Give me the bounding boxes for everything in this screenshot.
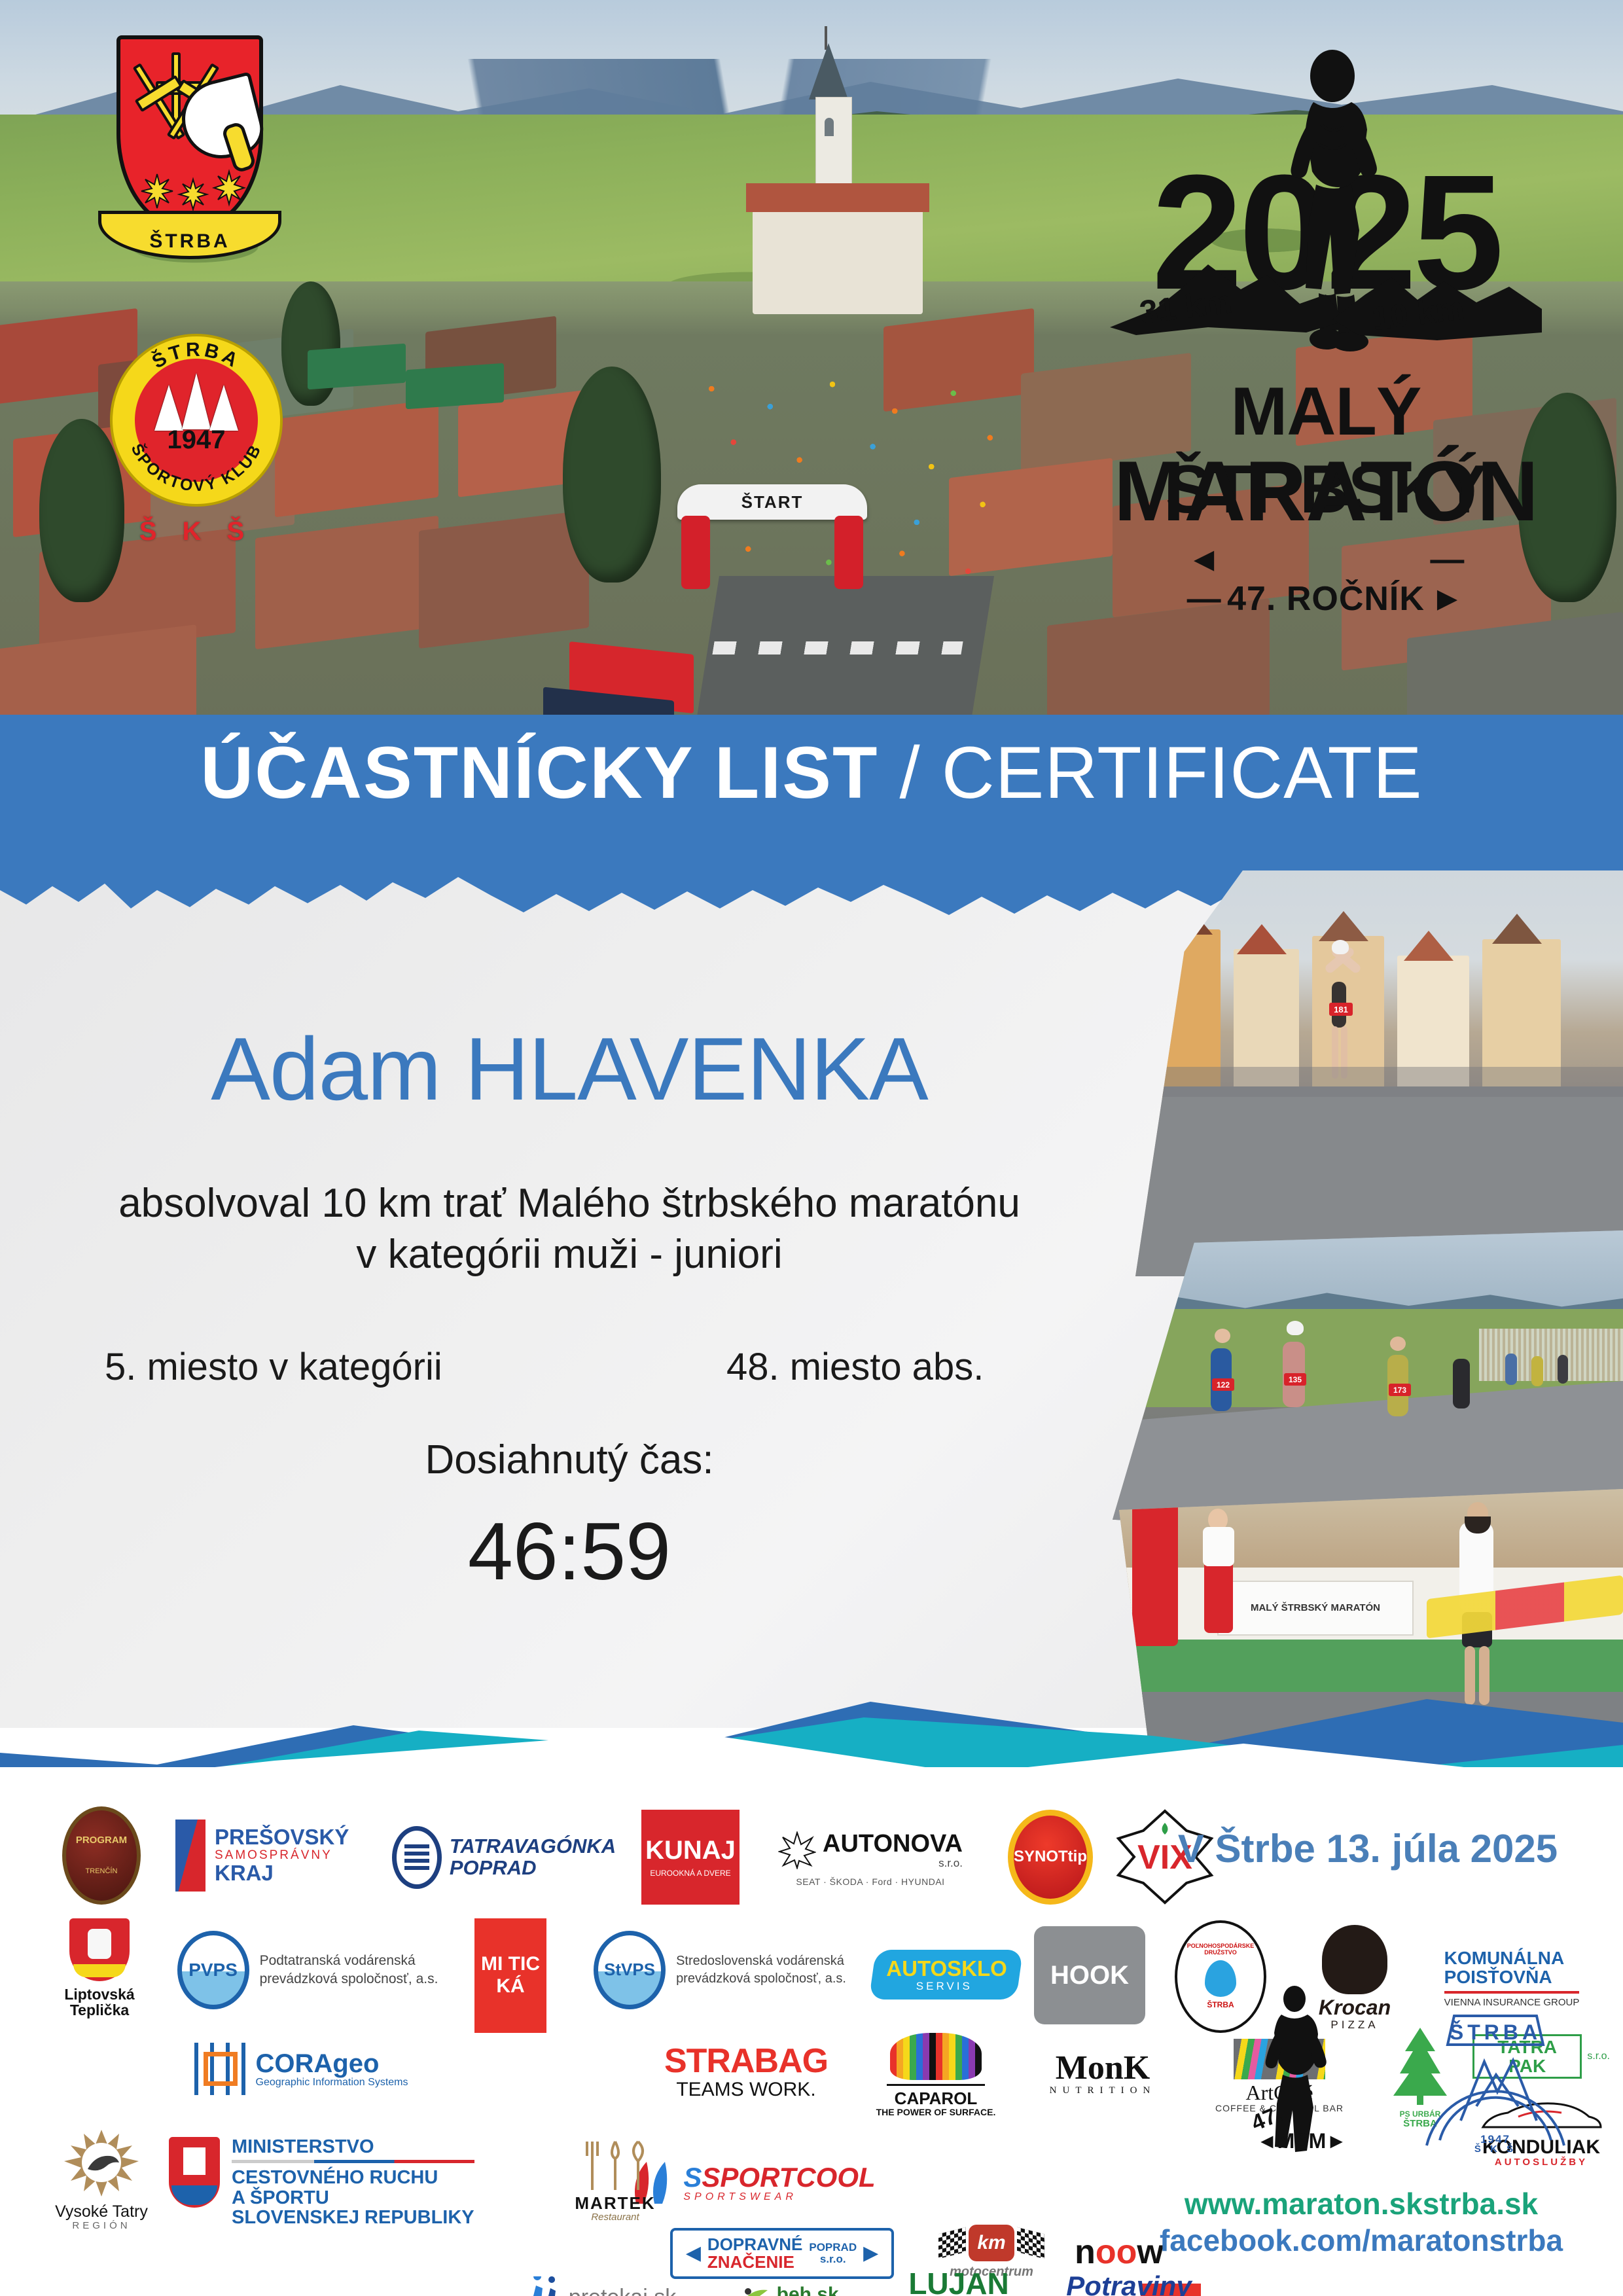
- sponsor-line3: A ŠPORTU: [232, 2188, 474, 2208]
- race-edition: ◄—47. ROČNÍK—►: [1071, 540, 1581, 619]
- title-separator: /: [878, 732, 941, 814]
- sponsor-pvps[interactable]: PVPS Podtatranská vodárenská prevádzková…: [164, 1924, 452, 2016]
- sponsor-line3: prevádzková spoločnosť, a.s.: [676, 1970, 846, 1988]
- sponsor-pretekaj-sk[interactable]: pretekaj.sk: [517, 2262, 687, 2296]
- sponsor-line2: Restaurant: [575, 2212, 655, 2223]
- sponsor-line1: AUTONOVA: [823, 1831, 963, 1857]
- strba-stamp-logo: ŠTRBA 1947 Š K Š: [1414, 1977, 1577, 2153]
- sponsor-caparol[interactable]: CAPAROL THE POWER OF SURFACE.: [864, 2022, 1008, 2127]
- sponsor-line1: MI TIC KÁ: [474, 1953, 546, 1998]
- bib-number: 173: [1389, 1384, 1411, 1396]
- sponsor-line2: POPRAD: [450, 1857, 616, 1879]
- sponsor-line4: SLOVENSKEJ REPUBLIKY: [232, 2208, 474, 2227]
- red-arch-leg: [1132, 1496, 1178, 1646]
- photo-runners-on-road: 122 135 173: [1113, 1230, 1623, 1538]
- sponsor-line2: THE POWER OF SURFACE.: [876, 2108, 996, 2117]
- running-figures-icon: [528, 2276, 562, 2296]
- photo-female-finisher: 181: [1135, 870, 1623, 1276]
- sponsor-line2: SPORTSWEAR: [683, 2192, 875, 2203]
- sponsor-hook[interactable]: HOOK: [1027, 1923, 1152, 2028]
- sponsor-line1: MINISTERSTVO: [232, 2137, 474, 2157]
- cutlery-icon: [579, 2139, 651, 2191]
- description-line-1: absolvoval 10 km trať Malého štrbského m…: [39, 1178, 1099, 1229]
- club-founding-year: 1947: [135, 425, 258, 455]
- sponsor-line2: Teplička: [64, 2002, 134, 2018]
- sponsor-line1: CAPAROL: [876, 2090, 996, 2108]
- sponsor-line3: SEAT · ŠKODA · Ford · HYUNDAI: [778, 1877, 963, 1887]
- sponsor-line2: s.r.o.: [823, 1857, 963, 1869]
- sponsor-presovsky-kraj[interactable]: PREŠOVSKÝ SAMOSPRÁVNY KRAJ: [175, 1813, 385, 1898]
- crest-municipality-label: ŠTRBA: [98, 230, 281, 253]
- strba-stamp-abbrev: Š K Š: [1474, 2143, 1516, 2153]
- time-label: Dosiahnutý čas:: [39, 1437, 1099, 1483]
- sponsor-line1: Liptovská: [64, 1986, 134, 2002]
- sponsor-beh-sk[interactable]: beh.sk Web, ktorý vás rozhýbe: [707, 2266, 883, 2296]
- start-arch-label: ŠTART: [677, 492, 867, 512]
- placement-row: 5. miesto v kategórii 48. miesto abs.: [39, 1345, 1099, 1397]
- sponsor-line1: PREŠOVSKÝ: [215, 1826, 349, 1849]
- sponsor-line1: KUNAJ: [645, 1837, 736, 1864]
- sponsor-program-trencin[interactable]: PROGRAM TRENČÍN: [39, 1806, 164, 1905]
- club-abbreviation: Š K Š: [98, 517, 294, 547]
- sponsor-autosklo-servis[interactable]: AUTOSKLO SERVIS: [870, 1932, 1021, 2017]
- conifer-tree: [563, 367, 661, 583]
- sponsor-corageo[interactable]: CORAgeo Geographic Information Systems: [164, 2026, 438, 2111]
- sponsor-tatravagonka[interactable]: TATRAVAGÓNKA POPRAD: [393, 1818, 615, 1897]
- finish-banner-text: MALÝ ŠTRBSKÝ MARATÓN: [1217, 1581, 1414, 1636]
- photo-collage: 181 122 135 173: [1106, 864, 1623, 1734]
- sponsor-stvps[interactable]: StVPS Stredoslovenská vodárenská prevádz…: [576, 1924, 864, 2016]
- msm-stamp-logo: 47. ◄MSM►: [1217, 1977, 1368, 2153]
- sponsor-line2: SERVIS: [883, 1980, 1005, 1992]
- sponsor-ministerstvo-sr[interactable]: MINISTERSTVO CESTOVNÉHO RUCHU A ŠPORTU S…: [169, 2117, 535, 2248]
- sponsor-line2: TEAMS WORK.: [664, 2079, 828, 2100]
- sponsor-line2: EUROOKNÁ A DVERE: [650, 1869, 730, 1878]
- sponsor-line1: HOOK: [1050, 1962, 1129, 1989]
- green-tent: [308, 344, 406, 389]
- start-arch: ŠTART: [677, 484, 867, 589]
- sponsor-line1: AUTOSKLO: [886, 1958, 1007, 1981]
- sponsor-line1: MARTEK: [575, 2195, 655, 2212]
- arch-leg-left: [681, 516, 710, 589]
- sponsor-line1: MonK: [1050, 2051, 1156, 2087]
- sponsor-line1: Potraviny: [1066, 2272, 1191, 2296]
- dash-right: —►: [1425, 540, 1471, 619]
- sponsor-liptovska-teplicka[interactable]: Liptovská Teplička: [47, 1912, 152, 2024]
- sponsor-martek-restaurant[interactable]: MARTEK Restaurant: [543, 2128, 687, 2233]
- dash-left: ◄—: [1181, 540, 1227, 619]
- finish-time: 46:59: [39, 1505, 1099, 1598]
- sponsor-miticka[interactable]: MI TIC KÁ: [458, 1916, 563, 2034]
- sponsor-line2: NUTRITION: [1050, 2086, 1156, 2096]
- sponsor-potraviny-serfel[interactable]: Potraviny ŠERFEL: [1041, 2253, 1217, 2296]
- sponsor-line1: POĽNOHOSPODÁRSKE DRUŽSTVO: [1184, 1943, 1257, 1956]
- sks-club-logo: ŠTRBA ŠPORTOVÝ KLUB 1947 Š K Š: [98, 327, 294, 589]
- sponsor-line3: prevádzková spoločnosť, a.s.: [260, 1970, 438, 1988]
- green-tent: [406, 363, 504, 409]
- title-bold-part: ÚČASTNÍCKY LIST: [200, 732, 878, 814]
- event-date: V Štrbe 13. júla 2025: [1139, 1826, 1597, 1871]
- crosswalk: [712, 641, 963, 655]
- sponsor-monk-nutrition[interactable]: MonK NUTRITION: [1021, 2034, 1185, 2113]
- arch-leg-right: [834, 516, 863, 589]
- sponsor-line2: REGIÓN: [55, 2221, 148, 2231]
- strba-stamp-top: ŠTRBA: [1450, 2020, 1541, 2044]
- website-url[interactable]: www.maraton.skstrba.sk: [1113, 2186, 1610, 2221]
- sponsor-line1: Vysoké Tatry: [55, 2203, 148, 2220]
- starburst-icon: [778, 1831, 816, 1869]
- sponsor-line1: beh.sk: [777, 2284, 857, 2296]
- sponsor-line2: s.r.o.: [1587, 2051, 1610, 2062]
- bib-number: 122: [1212, 1378, 1234, 1391]
- sponsor-line3: KRAJ: [215, 1862, 349, 1885]
- race-edition-label: 47. ROČNÍK: [1227, 580, 1425, 618]
- sponsor-line2: AUTOSLUŽBY: [1479, 2157, 1603, 2168]
- certificate-page: ŠTART ŠTRBA: [0, 0, 1623, 2296]
- category-placement: 5. miesto v kategórii: [105, 1345, 442, 1389]
- sponsor-line1: PVPS: [188, 1960, 238, 1979]
- church-roof: [746, 183, 929, 212]
- sponsor-line2: Geographic Information Systems: [256, 2077, 408, 2089]
- sponsor-line1: LUJAN: [906, 2268, 1012, 2296]
- sponsor-line1: DOPRAVNÉ: [707, 2236, 802, 2253]
- sponsor-line2: Podtatranská vodárenská: [260, 1952, 438, 1970]
- club-top-arc: ŠTRBA: [148, 339, 244, 373]
- svg-text:ŠTRBA: ŠTRBA: [148, 339, 244, 373]
- sponsor-line2: CESTOVNÉHO RUCHU: [232, 2168, 474, 2187]
- sponsor-line2: Stredoslovenská vodárenská: [676, 1952, 846, 1970]
- title-light-part: CERTIFICATE: [942, 732, 1423, 814]
- sponsor-line1: SPORTCOOL: [702, 2162, 875, 2193]
- strba-coat-of-arms: ŠTRBA: [98, 31, 281, 287]
- sponsor-kunaj[interactable]: KUNAJ EUROOKNÁ A DVERE: [635, 1808, 746, 1906]
- start-road: [694, 576, 994, 733]
- absolute-placement: 48. miesto abs.: [726, 1345, 984, 1389]
- bib-number: 135: [1284, 1373, 1306, 1386]
- sponsor-line1: StVPS: [604, 1961, 655, 1979]
- chamois-sun-icon: [59, 2128, 144, 2200]
- facebook-url[interactable]: facebook.com/maratonstrba: [1113, 2223, 1610, 2258]
- bib-number: 181: [1329, 1003, 1353, 1016]
- sponsor-line1: STRABAG: [664, 2043, 828, 2079]
- sponsor-line1: KOMUNÁLNA: [1444, 1948, 1580, 1967]
- sponsor-line1: TATRAVAGÓNKA: [450, 1836, 616, 1857]
- sponsor-line3: POPRAD s.r.o.: [809, 2242, 857, 2265]
- sponsor-line2: TRENČÍN: [86, 1868, 118, 1876]
- sponsor-line1: CORAgeo: [256, 2050, 408, 2077]
- msm-abbrev: ◄MSM►: [1257, 2129, 1347, 2153]
- participant-name: Adam HLAVENKA: [39, 1018, 1099, 1120]
- description-line-2: v kategórii muži - juniori: [39, 1229, 1099, 1280]
- sponsor-autonova[interactable]: AUTONOVA s.r.o. SEAT · ŠKODA · Ford · HY…: [759, 1806, 982, 1911]
- sponsor-vysoke-tatry-region[interactable]: Vysoké Tatry REGIÓN: [39, 2121, 164, 2238]
- beh-sk-icon: [734, 2284, 770, 2296]
- church-nave: [753, 196, 923, 314]
- race-name-line2: MARATÓN: [1071, 442, 1581, 540]
- sponsor-synottip[interactable]: SYNOTtip: [995, 1808, 1106, 1906]
- sponsor-line1: PROGRAM: [76, 1835, 127, 1846]
- certificate-title: ÚČASTNÍCKY LIST / CERTIFICATE: [0, 736, 1623, 810]
- crest-banner: ŠTRBA: [98, 196, 281, 272]
- race-logo: 2025 31 km: [1071, 33, 1581, 609]
- sponsor-line2: SAMOSPRÁVNY: [215, 1849, 349, 1862]
- sponsor-lujan-plus[interactable]: LUJAN Plus s.r.o.: [883, 2253, 1034, 2296]
- sponsor-line1: pretekaj.sk: [569, 2286, 676, 2296]
- achievement-description: absolvoval 10 km trať Malého štrbského m…: [39, 1178, 1099, 1280]
- sponsor-strabag[interactable]: STRABAG TEAMS WORK.: [654, 2029, 838, 2114]
- sponsor-line1: SYNOTtip: [1014, 1848, 1087, 1865]
